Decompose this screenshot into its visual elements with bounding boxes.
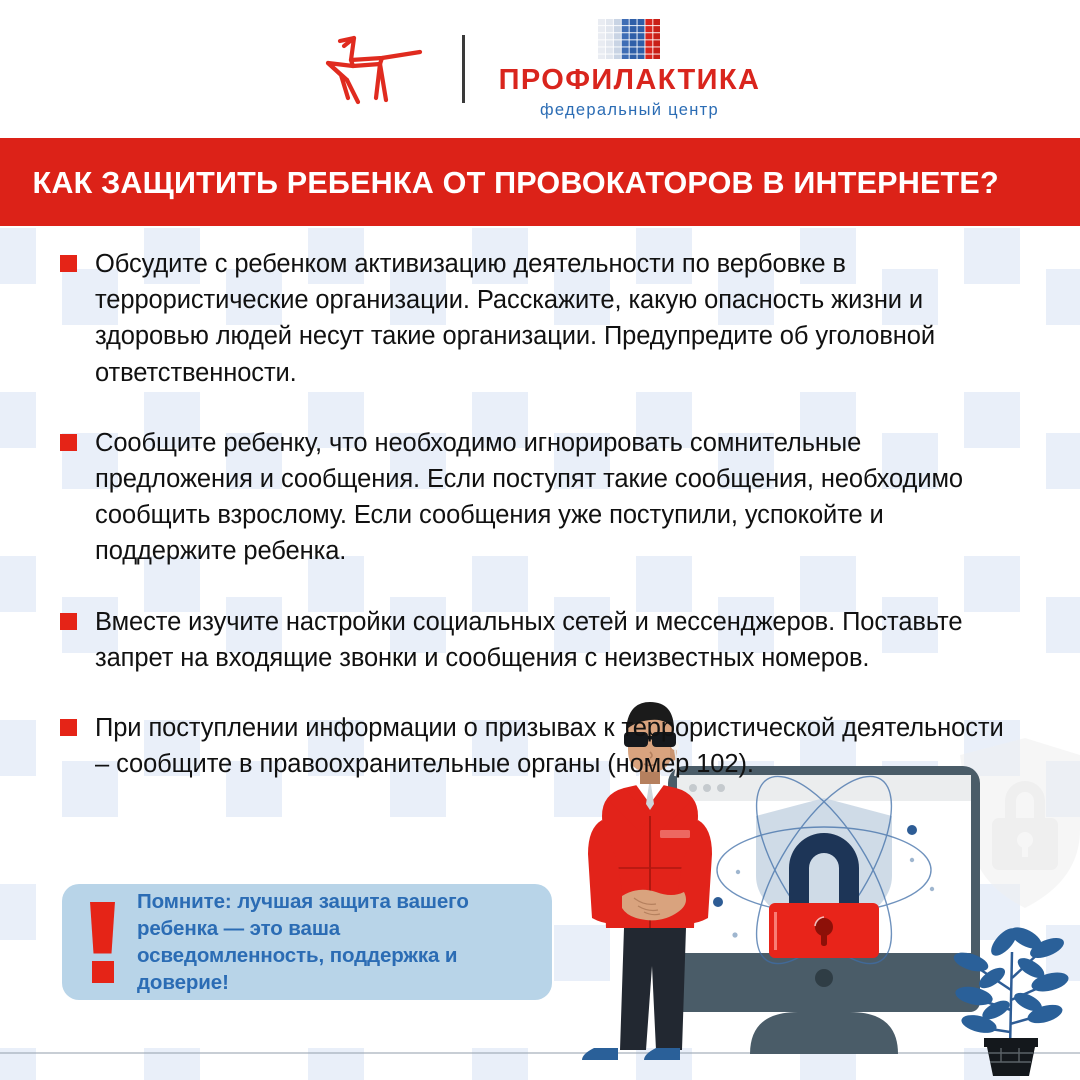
pixel-grid-cell <box>630 19 637 25</box>
plant-pot <box>984 1038 1038 1076</box>
list-item-text: Вместе изучите настройки социальных сете… <box>95 604 1020 676</box>
pixel-grid-cell <box>654 26 661 32</box>
pixel-grid-cell <box>598 55 605 60</box>
advice-list: Обсудите с ребенком активизацию деятельн… <box>60 246 1020 782</box>
list-item-text: При поступлении информации о призывах к … <box>95 710 1020 782</box>
pixel-grid-icon <box>598 19 660 59</box>
pixel-grid-cell <box>630 55 637 60</box>
list-item: При поступлении информации о призывах к … <box>60 710 1020 782</box>
pixel-grid-cell <box>654 33 661 39</box>
pixel-grid-cell <box>638 19 645 25</box>
background-square <box>1046 433 1080 489</box>
pixel-grid-cell <box>606 41 613 47</box>
pixel-grid-cell <box>598 19 605 25</box>
list-item: Обсудите с ребенком активизацию деятельн… <box>60 246 1020 391</box>
pixel-grid-cell <box>606 48 613 54</box>
pixel-grid-cell <box>646 55 653 60</box>
accent-dot <box>907 825 917 835</box>
logo-divider <box>462 35 465 103</box>
accent-dot <box>713 897 723 907</box>
page-title: КАК ЗАЩИТИТЬ РЕБЕНКА ОТ ПРОВОКАТОРОВ В И… <box>0 167 999 198</box>
pixel-grid-cell <box>654 41 661 47</box>
pixel-grid-cell <box>646 19 653 25</box>
brand-lockup: ПРОФИЛАКТИКА федеральный центр <box>499 19 761 119</box>
pixel-grid-cell <box>646 33 653 39</box>
background-square <box>0 228 36 284</box>
pixel-grid-cell <box>638 55 645 60</box>
title-banner: КАК ЗАЩИТИТЬ РЕБЕНКА ОТ ПРОВОКАТОРОВ В И… <box>0 138 1080 226</box>
monitor-stand <box>750 1012 898 1054</box>
accent-dot <box>930 887 934 891</box>
accent-dot <box>732 932 737 937</box>
pixel-grid-cell <box>646 26 653 32</box>
background-square <box>1046 597 1080 653</box>
bullet-square-icon <box>60 719 77 736</box>
accent-dot <box>736 870 740 874</box>
pixel-grid-cell <box>614 33 621 39</box>
guard-shoe <box>644 1048 680 1060</box>
pixel-grid-cell <box>638 33 645 39</box>
pixel-grid-cell <box>622 48 629 54</box>
pixel-grid-cell <box>598 33 605 39</box>
accent-dot <box>910 858 914 862</box>
pixel-grid-cell <box>630 33 637 39</box>
header-logo-bar: ПРОФИЛАКТИКА федеральный центр <box>0 0 1080 138</box>
background-square <box>0 556 36 612</box>
pixel-grid-cell <box>614 41 621 47</box>
pixel-grid-cell <box>638 48 645 54</box>
pixel-grid-cell <box>622 19 629 25</box>
poster-root: ПРОФИЛАКТИКА федеральный центр КАК ЗАЩИТ… <box>0 0 1080 1080</box>
background-square <box>0 720 36 776</box>
pixel-grid-cell <box>622 55 629 60</box>
pixel-grid-cell <box>606 26 613 32</box>
reminder-callout: Помните: лучшая защита вашего ребенка — … <box>62 884 552 1000</box>
pixel-grid-cell <box>638 26 645 32</box>
pixel-grid-cell <box>630 26 637 32</box>
guard-trousers <box>620 928 686 1050</box>
pixel-grid-cell <box>598 48 605 54</box>
pixel-grid-cell <box>614 19 621 25</box>
exclamation-mark-icon <box>90 902 118 983</box>
pixel-grid-cell <box>654 48 661 54</box>
background-square <box>0 884 36 940</box>
pixel-grid-cell <box>622 41 629 47</box>
list-item: Вместе изучите настройки социальных сете… <box>60 604 1020 676</box>
bullet-square-icon <box>60 434 77 451</box>
pixel-grid-cell <box>598 26 605 32</box>
pixel-grid-cell <box>630 48 637 54</box>
list-item: Сообщите ребенку, что необходимо игнорир… <box>60 425 1020 570</box>
brand-subtitle: федеральный центр <box>540 102 719 119</box>
pixel-grid-cell <box>614 55 621 60</box>
pixel-grid-cell <box>622 26 629 32</box>
pixel-grid-cell <box>598 41 605 47</box>
pixel-grid-cell <box>646 41 653 47</box>
pixel-grid-cell <box>654 55 661 60</box>
pixel-grid-cell <box>654 19 661 25</box>
pixel-grid-cell <box>638 41 645 47</box>
pixel-grid-cell <box>646 48 653 54</box>
brand-name: ПРОФИЛАКТИКА <box>499 66 761 95</box>
guard-shoe <box>582 1048 618 1060</box>
background-square <box>0 392 36 448</box>
pixel-grid-cell <box>614 48 621 54</box>
pixel-grid-cell <box>606 19 613 25</box>
pixel-grid-cell <box>606 55 613 60</box>
list-item-text: Обсудите с ребенком активизацию деятельн… <box>95 246 1020 391</box>
pixel-grid-cell <box>614 26 621 32</box>
pixel-grid-cell <box>630 41 637 47</box>
red-dog-line-art-logo <box>320 30 428 108</box>
pixel-grid-cell <box>622 33 629 39</box>
pixel-grid-cell <box>606 33 613 39</box>
bullet-square-icon <box>60 613 77 630</box>
reminder-text: Помните: лучшая защита вашего ребенка — … <box>137 888 524 997</box>
background-square <box>1046 269 1080 325</box>
list-item-text: Сообщите ребенку, что необходимо игнорир… <box>95 425 1020 570</box>
bullet-square-icon <box>60 255 77 272</box>
